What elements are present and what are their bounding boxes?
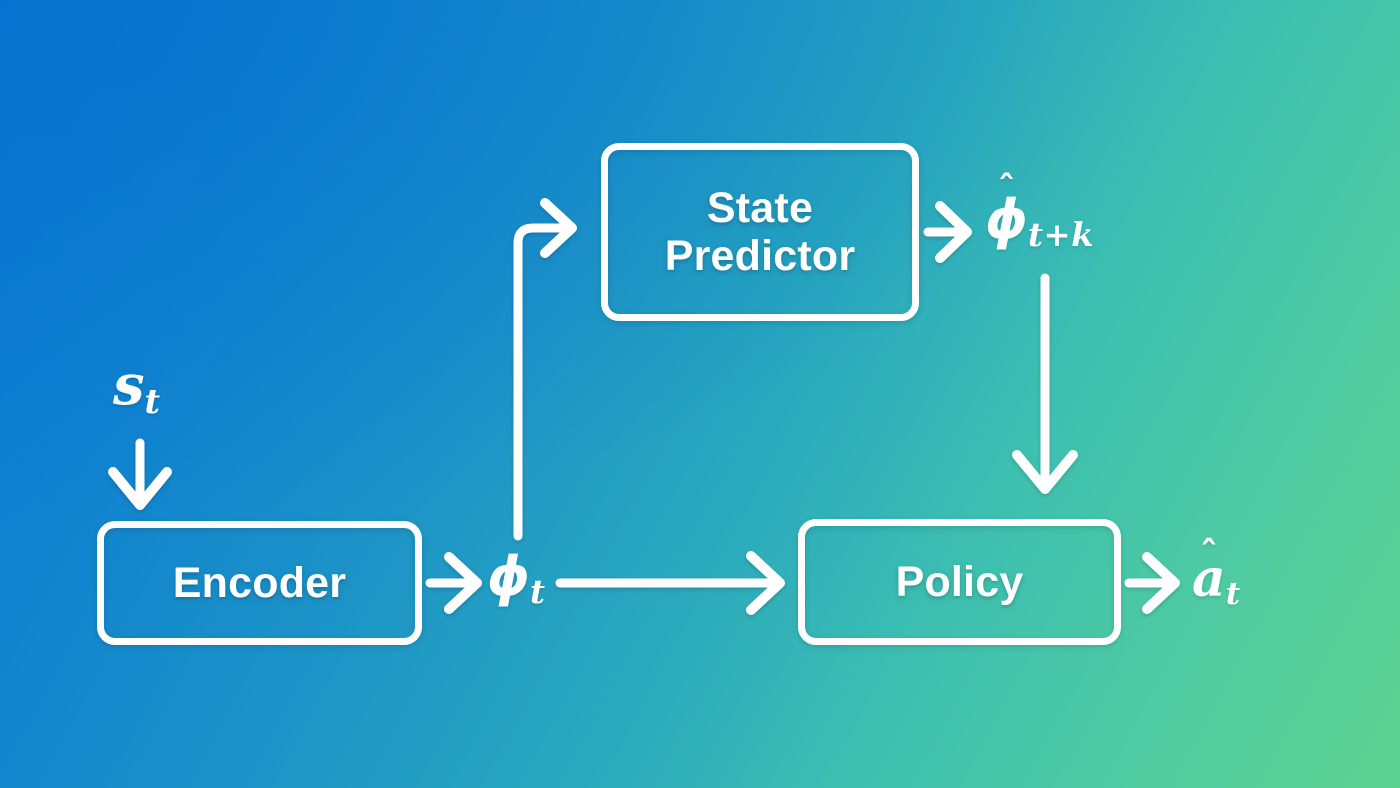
label-latent-state: ϕ t <box>487 545 545 608</box>
label-predicted-action-sub: t <box>1226 576 1241 612</box>
edge-phi-to-policy <box>560 556 780 610</box>
edge-phi-to-state-predictor <box>518 203 572 536</box>
label-predicted-action: ˆ a t <box>1192 548 1241 609</box>
edge-policy-to-action <box>1129 557 1175 609</box>
label-input-state-base-wrap: s <box>113 352 145 418</box>
hat-accent-predicted-action: ˆ <box>1200 533 1218 576</box>
label-input-state-sub: t <box>145 381 161 421</box>
label-input-state-base: s <box>113 352 145 418</box>
label-predicted-state-base-wrap: ˆ ϕ <box>985 188 1028 251</box>
label-predicted-state-sub: t+k <box>1028 216 1094 254</box>
label-latent-state-base-wrap: ϕ <box>487 545 530 608</box>
node-state-predictor[interactable]: State Predictor <box>601 143 919 321</box>
node-policy[interactable]: Policy <box>798 519 1121 645</box>
label-predicted-state: ˆ ϕ t+k <box>985 188 1094 251</box>
label-input-state: s t <box>113 352 161 418</box>
label-latent-state-sub: t <box>530 573 545 611</box>
label-predicted-action-base-wrap: ˆ a <box>1192 548 1226 609</box>
node-state-predictor-label: State Predictor <box>665 184 856 280</box>
diagram-canvas: Encoder State Predictor Policy s t ϕ t ˆ… <box>0 0 1400 788</box>
edge-state-predictor-to-phihat <box>928 206 967 258</box>
edge-state-to-encoder <box>113 443 167 505</box>
label-latent-state-base: ϕ <box>487 545 530 608</box>
node-encoder-label: Encoder <box>173 559 346 607</box>
node-policy-label: Policy <box>896 558 1024 606</box>
hat-accent-predicted-state: ˆ <box>998 169 1016 210</box>
connector-layer <box>0 0 1400 788</box>
edge-phihat-to-policy <box>1017 278 1073 489</box>
node-encoder[interactable]: Encoder <box>97 521 422 645</box>
edge-encoder-to-phi <box>430 557 477 609</box>
